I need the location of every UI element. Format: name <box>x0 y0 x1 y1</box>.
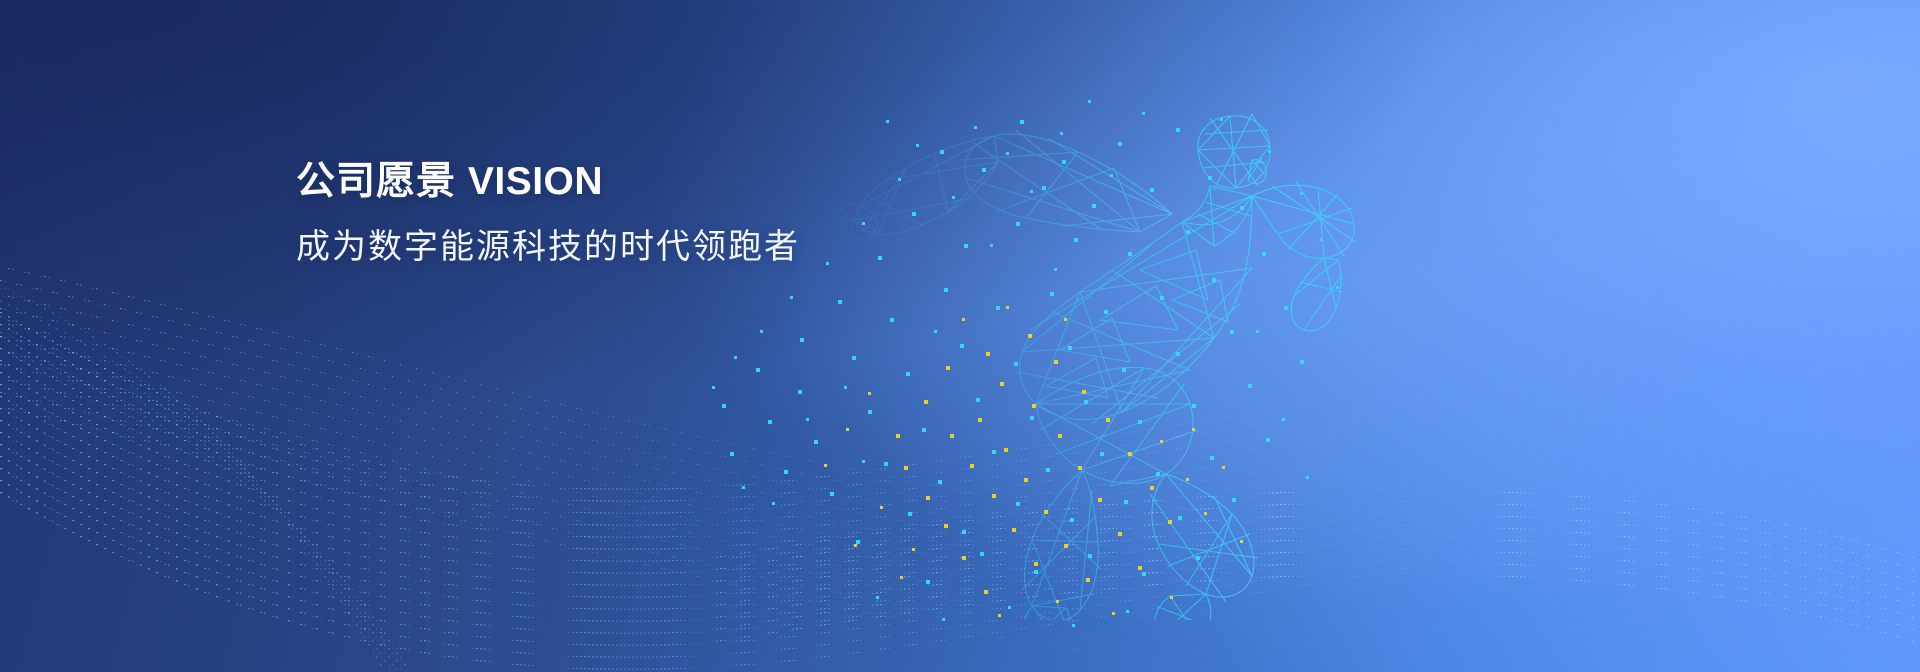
hero-copy: 公司愿景 VISION 成为数字能源科技的时代领跑者 <box>296 160 800 268</box>
wave-mesh-layer <box>0 0 1920 672</box>
vision-banner: 公司愿景 VISION 成为数字能源科技的时代领跑者 <box>0 0 1920 672</box>
page-subtitle: 成为数字能源科技的时代领跑者 <box>296 227 800 268</box>
wireframe-runner-figure <box>0 0 1920 672</box>
dissolving-particles <box>0 0 1920 672</box>
page-title-en: VISION <box>468 160 603 203</box>
background-bloom <box>0 0 1920 672</box>
background-vignette <box>0 0 1920 672</box>
page-title-cn: 公司愿景 <box>296 160 456 203</box>
page-title: 公司愿景 VISION <box>296 160 800 205</box>
